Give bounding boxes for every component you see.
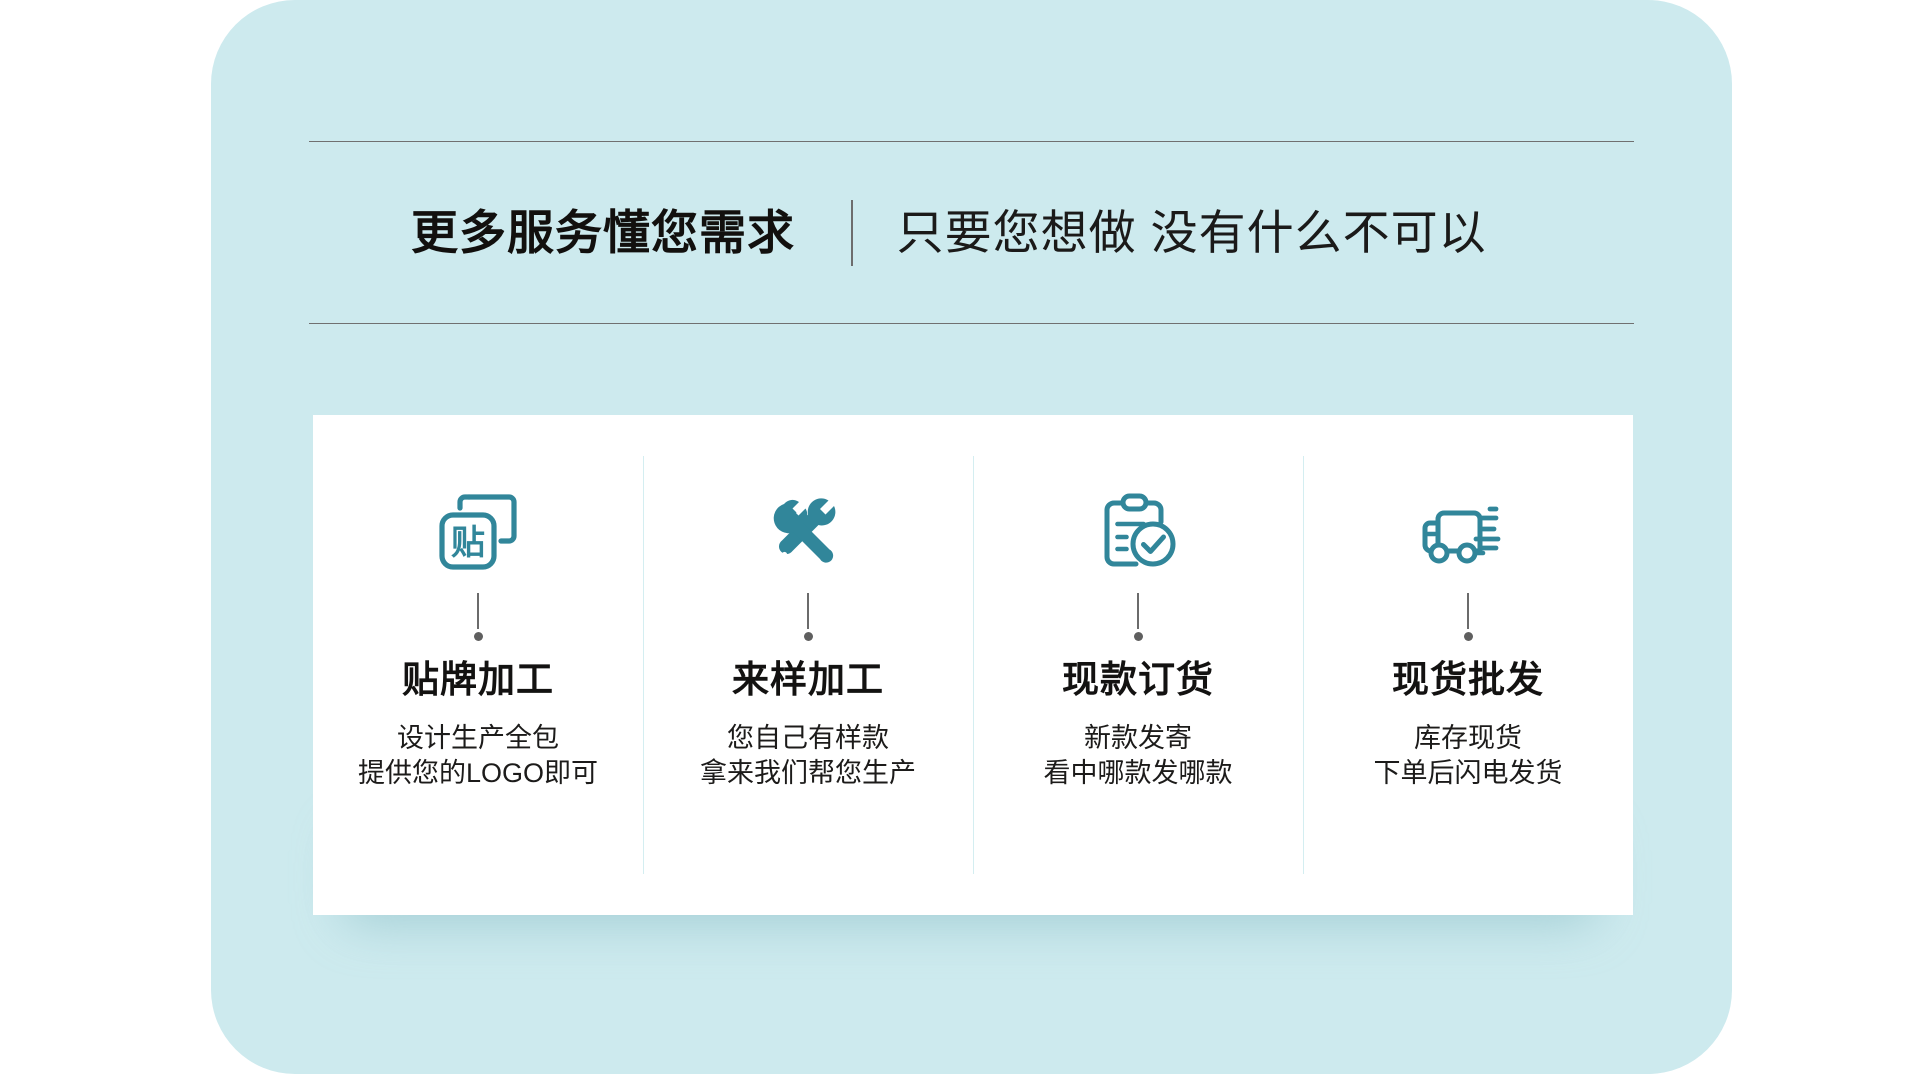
screenshot-root: 更多服务懂您需求 只要您想做 没有什么不可以 贴 贴牌加工	[0, 0, 1920, 1074]
section-header: 更多服务懂您需求 只要您想做 没有什么不可以	[309, 141, 1634, 324]
headline-secondary: 只要您想做 没有什么不可以	[897, 209, 1487, 256]
feature-item-stock[interactable]: 现货批发 库存现货 下单后闪电发货	[1303, 415, 1633, 915]
feature-description: 您自己有样款 拿来我们帮您生产	[700, 721, 916, 792]
connector-stem	[473, 593, 483, 641]
feature-description: 库存现货 下单后闪电发货	[1374, 721, 1563, 792]
connector-stem	[1463, 593, 1473, 641]
feature-description: 新款发寄 看中哪款发哪款	[1044, 721, 1233, 792]
connector-dot	[1464, 632, 1473, 641]
connector-dot	[1134, 632, 1143, 641]
feature-title: 来样加工	[732, 660, 884, 701]
hammer-wrench-icon	[766, 489, 850, 575]
connector-stem	[1133, 593, 1143, 641]
feature-line: 您自己有样款	[700, 721, 916, 757]
feature-item-oem[interactable]: 贴 贴牌加工 设计生产全包 提供您的LOGO即可	[313, 415, 643, 915]
feature-title: 贴牌加工	[402, 660, 554, 701]
feature-line: 看中哪款发哪款	[1044, 756, 1233, 792]
connector-dot	[804, 632, 813, 641]
feature-card: 贴 贴牌加工 设计生产全包 提供您的LOGO即可	[313, 415, 1633, 915]
feature-title: 现货批发	[1392, 660, 1544, 701]
feature-line: 拿来我们帮您生产	[700, 756, 916, 792]
connector-dot	[474, 632, 483, 641]
connector-line	[1137, 593, 1139, 629]
label-tag-icon: 贴	[436, 489, 520, 575]
headline-primary: 更多服务懂您需求	[411, 209, 795, 256]
feature-line: 新款发寄	[1044, 721, 1233, 757]
feature-description: 设计生产全包 提供您的LOGO即可	[358, 721, 598, 792]
clipboard-check-icon	[1096, 489, 1180, 575]
connector-line	[477, 593, 479, 629]
connector-line	[1467, 593, 1469, 629]
feature-item-order[interactable]: 现款订货 新款发寄 看中哪款发哪款	[973, 415, 1303, 915]
feature-item-sample[interactable]: 来样加工 您自己有样款 拿来我们帮您生产	[643, 415, 973, 915]
delivery-truck-icon	[1422, 489, 1514, 575]
headline-separator	[851, 200, 853, 266]
connector-stem	[803, 593, 813, 641]
feature-title: 现款订货	[1062, 660, 1214, 701]
svg-text:贴: 贴	[451, 524, 485, 562]
header-inner: 更多服务懂您需求 只要您想做 没有什么不可以	[411, 200, 1487, 266]
connector-line	[807, 593, 809, 629]
feature-line: 提供您的LOGO即可	[358, 756, 598, 792]
feature-line: 库存现货	[1374, 721, 1563, 757]
feature-line: 下单后闪电发货	[1374, 756, 1563, 792]
feature-line: 设计生产全包	[358, 721, 598, 757]
